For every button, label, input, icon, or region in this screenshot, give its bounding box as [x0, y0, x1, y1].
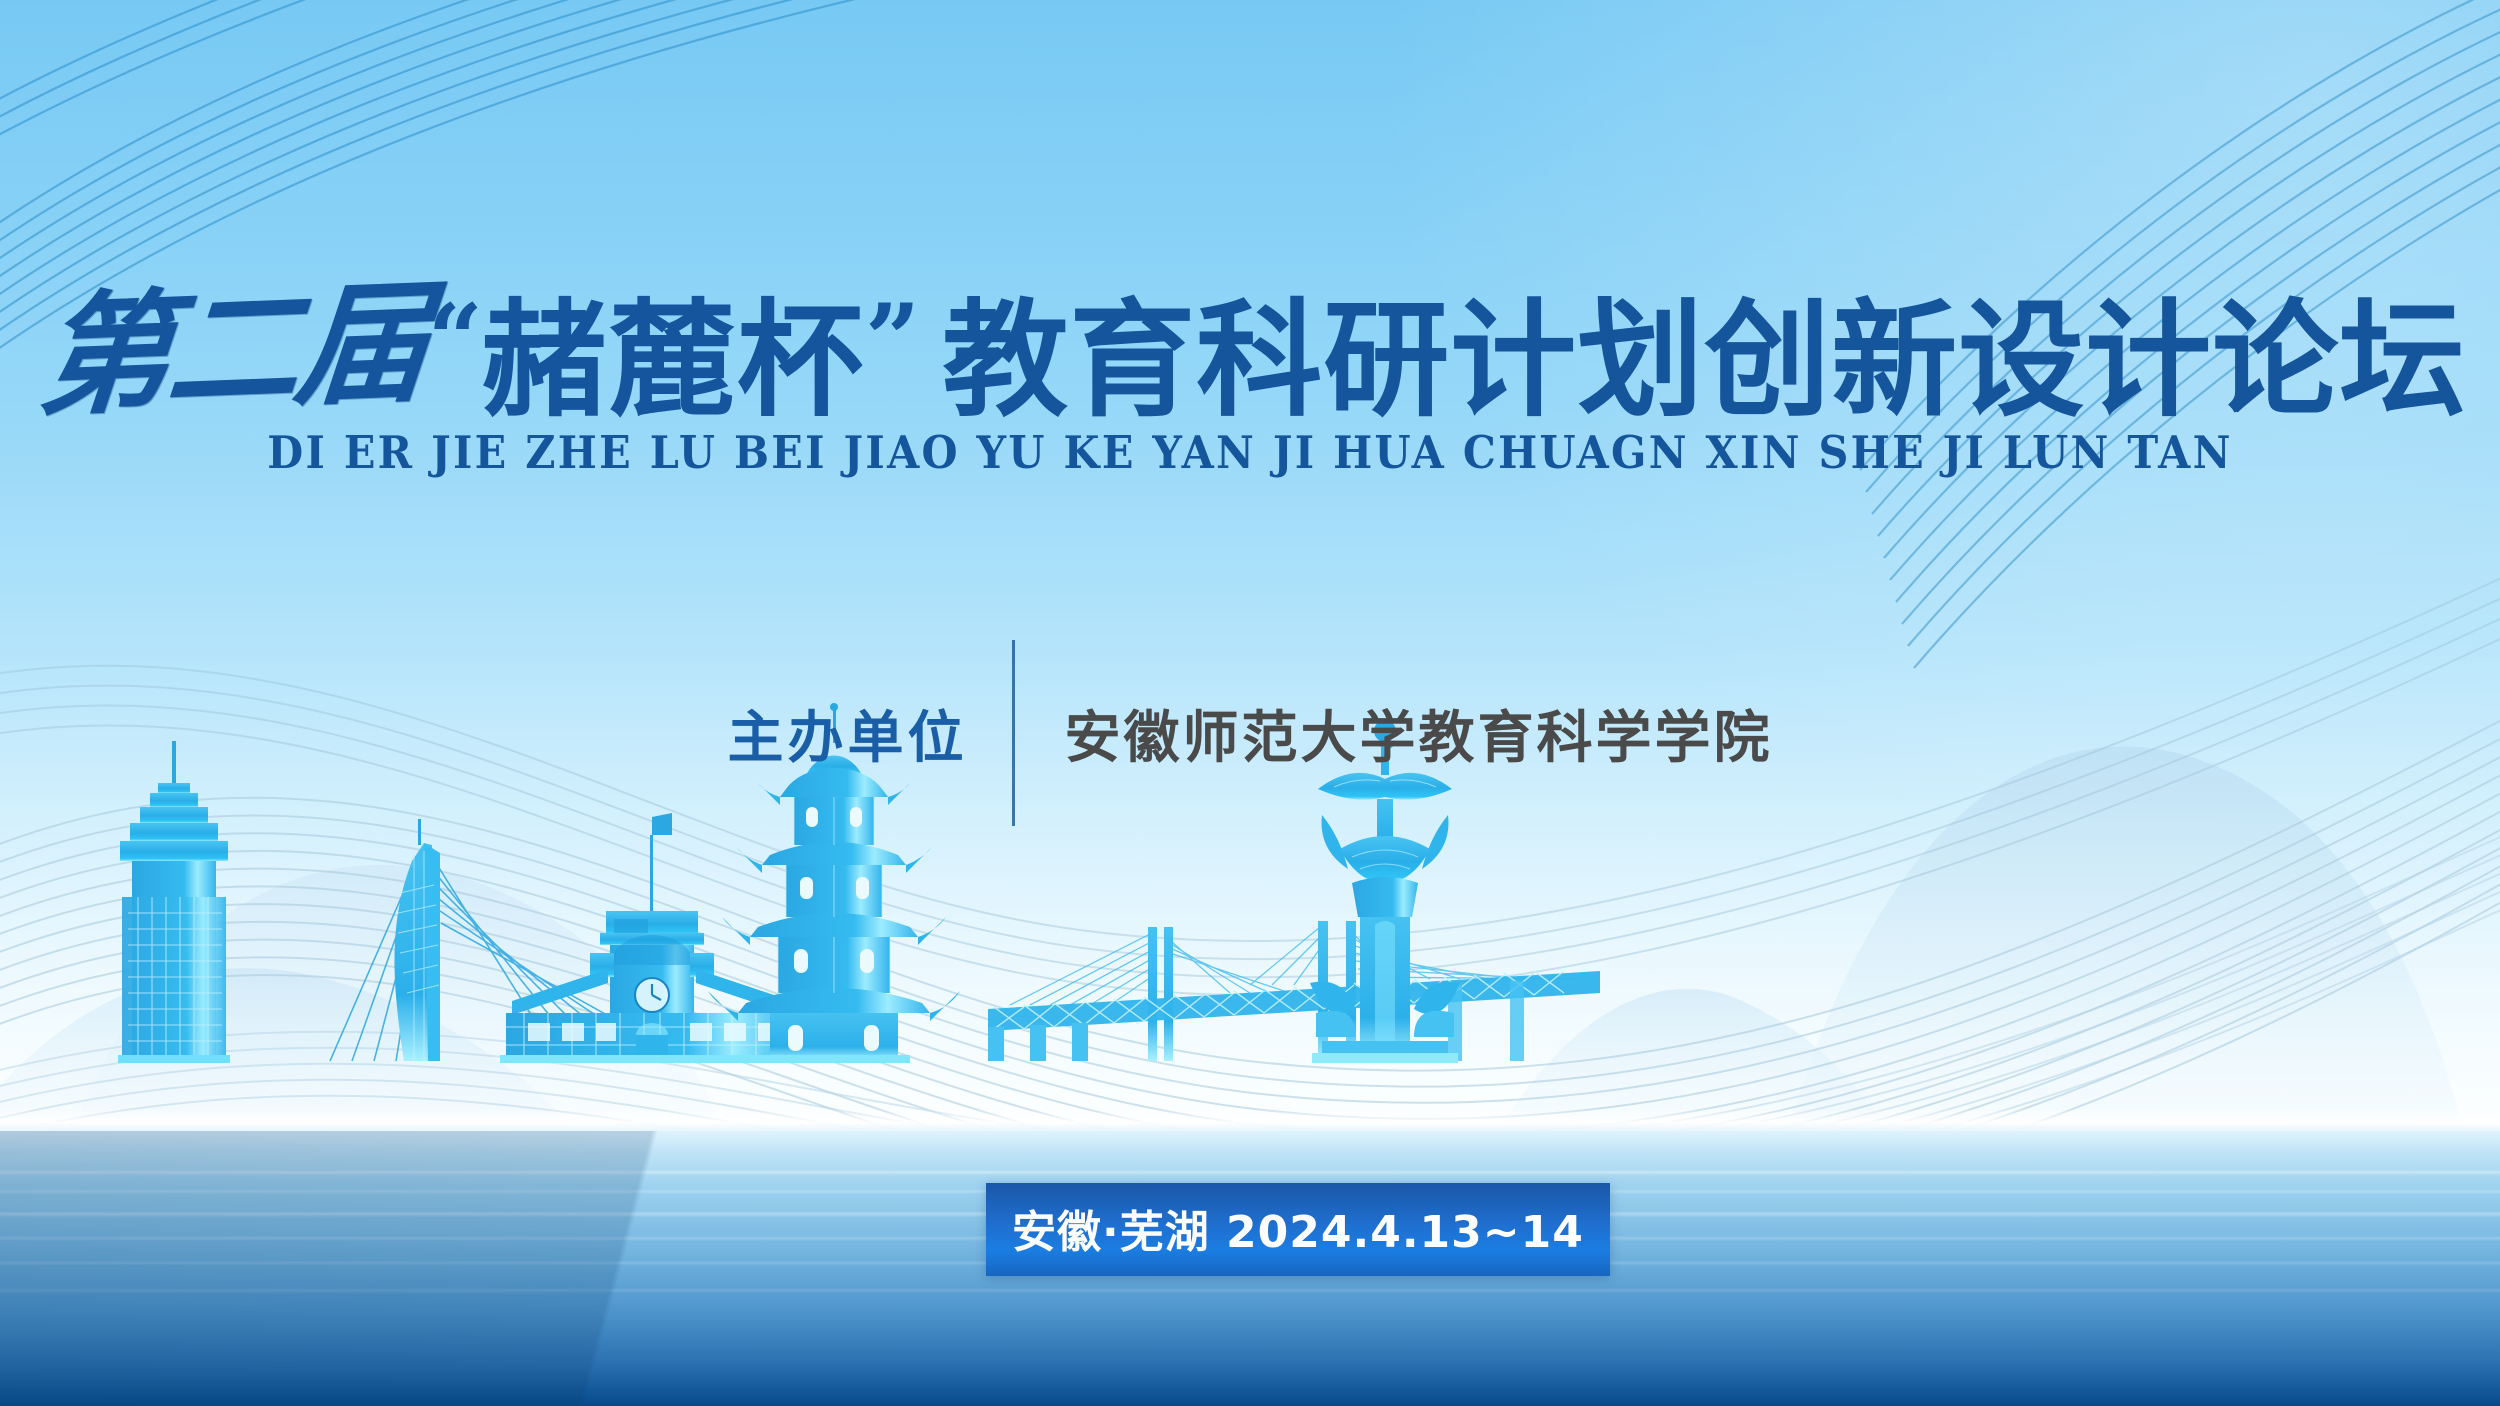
event-date-badge: 安徽·芜湖 2024.4.13~14 [986, 1183, 1610, 1276]
banner-title-block: 第二届 “ 赭麓杯 ” 教育科研计划创新设计论坛 DI ER JIE ZHE L… [0, 292, 2500, 475]
conference-banner: 第二届 “ 赭麓杯 ” 教育科研计划创新设计论坛 DI ER JIE ZHE L… [0, 0, 2500, 1406]
title-edition: 第二届 [34, 277, 441, 424]
title-pinyin: DI ER JIE ZHE LU BEI JIAO YU KE YAN JI H… [100, 430, 2400, 475]
clock-tower-hall [500, 813, 804, 1063]
host-label: 主办单位 [728, 693, 1012, 774]
host-block: 主办单位 安徽师范大学教育科学学院 [0, 640, 2500, 826]
quote-close-mark: ” [865, 292, 918, 388]
quote-open-mark: “ [428, 292, 481, 388]
title-main-row: 第二届 “ 赭麓杯 ” 教育科研计划创新设计论坛 [0, 292, 2500, 424]
suspension-bridge [988, 921, 1600, 1061]
host-organization: 安徽师范大学教育科学学院 [1015, 693, 1773, 774]
host-divider [1012, 640, 1015, 826]
title-main-text: 教育科研计划创新设计论坛 [942, 298, 2466, 424]
title-cup-name: 赭麓杯 [481, 298, 865, 424]
